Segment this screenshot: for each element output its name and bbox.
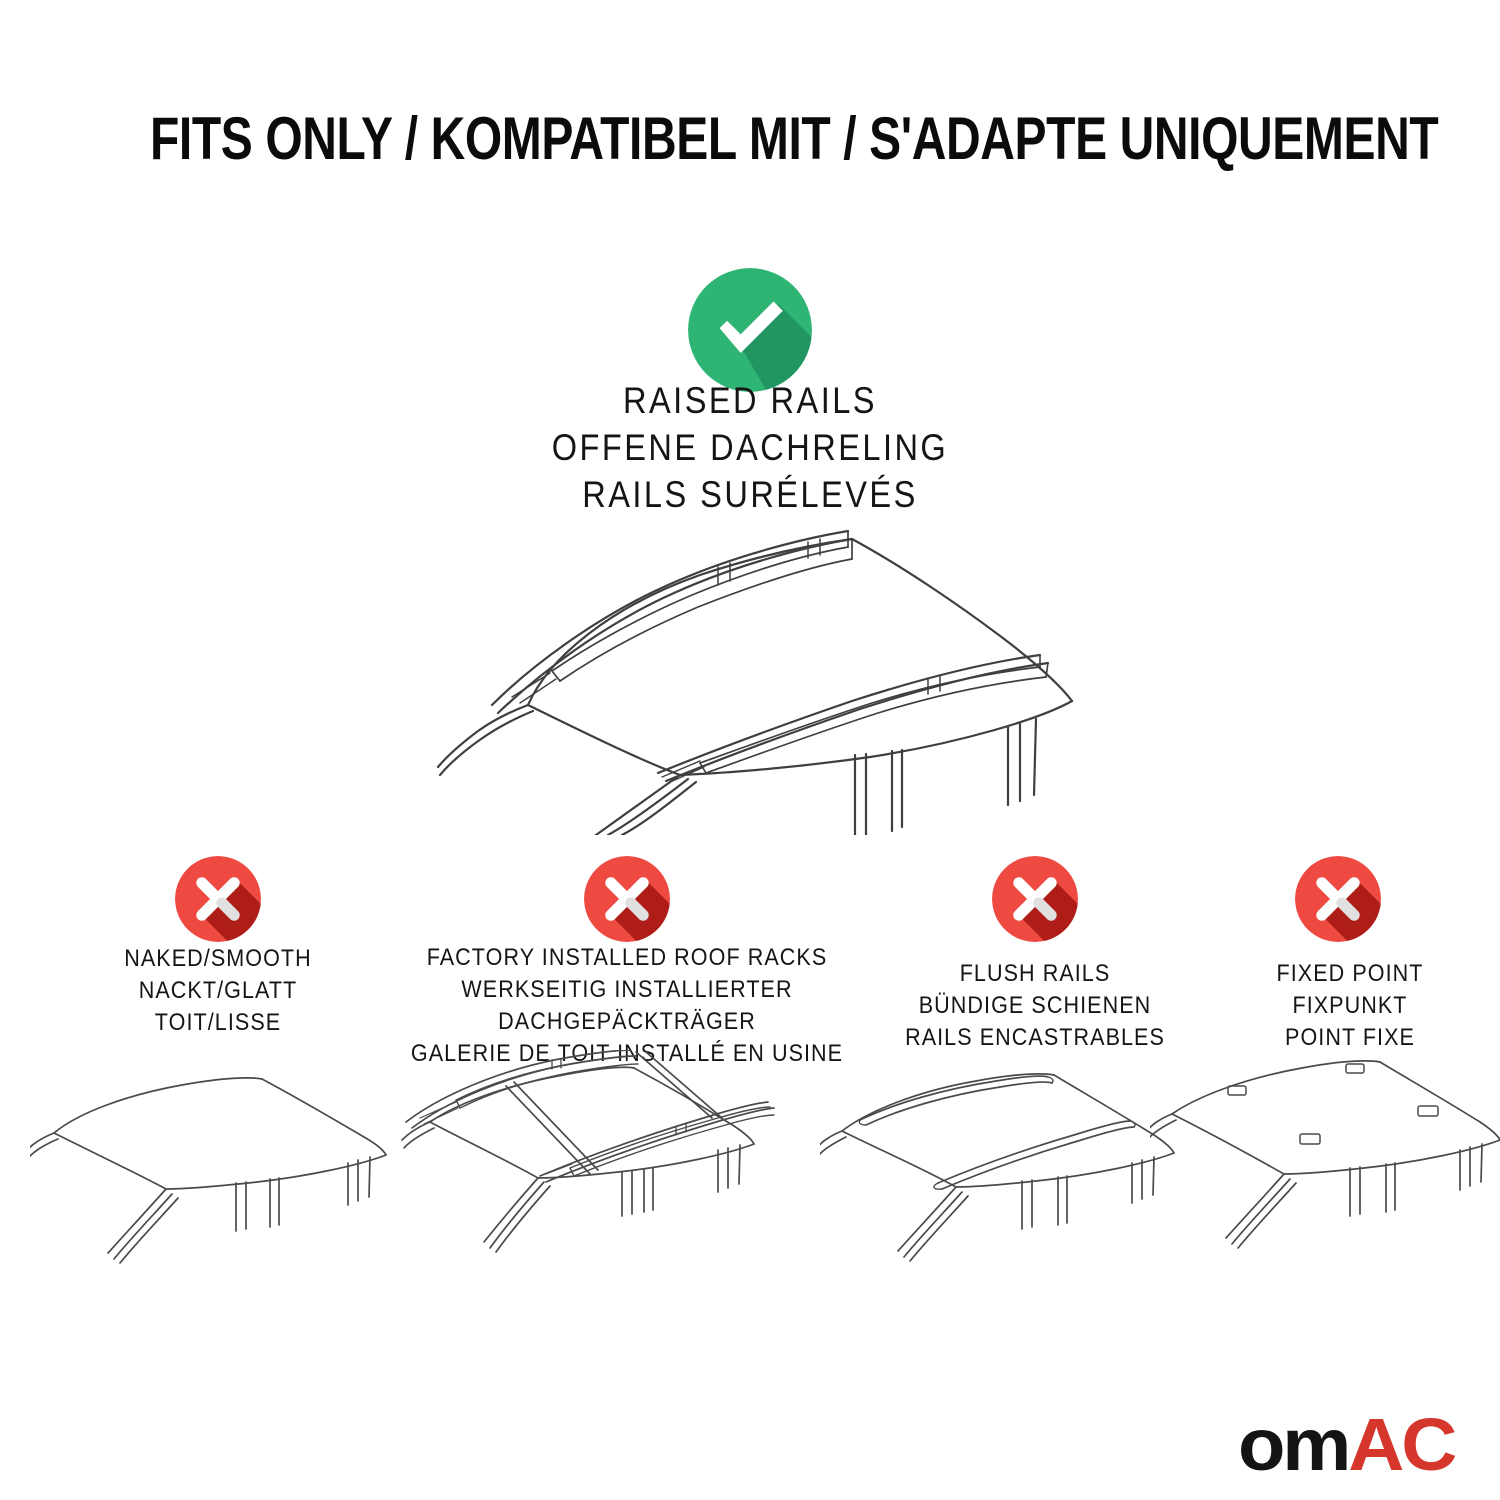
caption-line: WERKSEITIG INSTALLIERTER (407, 974, 847, 1006)
car-roof-fixed-point-illustration (1150, 1050, 1500, 1280)
caption-line: TOIT/LISSE (42, 1007, 394, 1039)
car-roof-naked-smooth-illustration (30, 1055, 410, 1285)
incompatible-caption-fixed-point: FIXED POINT FIXPUNKT POINT FIXE (1150, 958, 1500, 1054)
fitment-compatibility-graphic: FITS ONLY / KOMPATIBEL MIT / S'ADAPTE UN… (0, 0, 1500, 1500)
caption-line: DACHGEPÄCKTRÄGER (407, 1006, 847, 1038)
logo-text-red: AC (1348, 1403, 1454, 1486)
x-circle-icon (584, 856, 670, 942)
caption-line: FACTORY INSTALLED ROOF RACKS (407, 942, 847, 974)
omac-logo: omAC (1238, 1408, 1444, 1482)
car-roof-flush-rails-illustration (820, 1055, 1200, 1285)
incompatible-caption-naked-smooth: NAKED/SMOOTH NACKT/GLATT TOIT/LISSE (18, 943, 418, 1039)
caption-line: OFFENE DACHRELING (398, 425, 1102, 472)
car-roof-raised-rails-illustration (400, 505, 1100, 835)
logo-text-black: om (1238, 1403, 1348, 1486)
check-circle-icon (688, 268, 812, 392)
caption-line: FIXPUNKT (1174, 990, 1500, 1022)
car-roof-factory-roof-racks-illustration (400, 1050, 780, 1280)
caption-line: NAKED/SMOOTH (42, 943, 394, 975)
caption-line: FIXED POINT (1174, 958, 1500, 990)
caption-line: RAISED RAILS (398, 378, 1102, 425)
caption-line: POINT FIXE (1174, 1022, 1500, 1054)
page-title: FITS ONLY / KOMPATIBEL MIT / S'ADAPTE UN… (150, 104, 1350, 173)
x-circle-icon (992, 856, 1078, 942)
caption-line: NACKT/GLATT (42, 975, 394, 1007)
x-circle-icon (175, 856, 261, 942)
x-circle-icon (1295, 856, 1381, 942)
compatible-caption: RAISED RAILS OFFENE DACHRELING RAILS SUR… (350, 378, 1150, 519)
